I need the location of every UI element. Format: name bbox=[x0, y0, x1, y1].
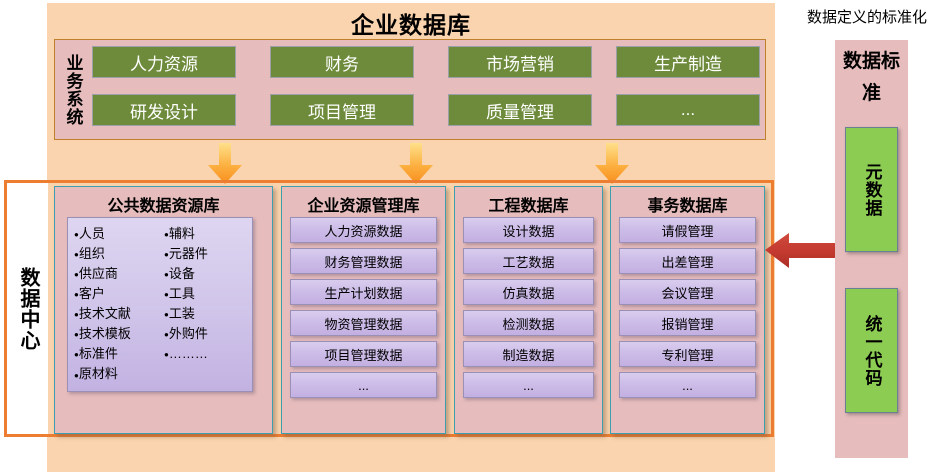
repo-enterprise-resource-mgmt[interactable]: 企业资源管理库 人力资源数据 财务管理数据 生产计划数据 物资管理数据 项目管理… bbox=[281, 186, 446, 434]
diagram-canvas: 企业数据库 业务系统 人力资源 财务 市场营销 生产制造 研发设计 项目管理 质… bbox=[0, 0, 952, 472]
public-data-bullet-panel: 人员 组织 供应商 客户 技术文献 技术模板 标准件 原材料 辅料 元器件 设备… bbox=[67, 217, 253, 392]
business-system-hr[interactable]: 人力资源 bbox=[92, 46, 236, 78]
list-item[interactable]: 人力资源数据 bbox=[290, 217, 437, 243]
business-systems-grid: 人力资源 财务 市场营销 生产制造 研发设计 项目管理 质量管理 ... bbox=[92, 44, 760, 136]
list-item[interactable]: 设计数据 bbox=[463, 217, 594, 243]
list-item[interactable]: 专利管理 bbox=[619, 341, 756, 367]
list-item[interactable]: 会议管理 bbox=[619, 279, 756, 305]
repo-transaction-data-items: 请假管理 出差管理 会议管理 报销管理 专利管理 ... bbox=[619, 217, 756, 425]
business-system-marketing[interactable]: 市场营销 bbox=[448, 46, 592, 78]
list-item[interactable]: 报销管理 bbox=[619, 310, 756, 336]
list-item[interactable]: 物资管理数据 bbox=[290, 310, 437, 336]
repo-public-data-resource[interactable]: 公共数据资源库 人员 组织 供应商 客户 技术文献 技术模板 标准件 原材料 辅… bbox=[54, 186, 273, 434]
list-item: 组织 bbox=[74, 244, 162, 264]
business-systems-label: 业务系统 bbox=[58, 41, 88, 138]
left-arrow-icon bbox=[763, 230, 839, 272]
list-item[interactable]: ... bbox=[463, 372, 594, 398]
list-item: 标准件 bbox=[74, 344, 162, 364]
business-system-quality-mgmt[interactable]: 质量管理 bbox=[448, 94, 592, 126]
list-item: 人员 bbox=[74, 224, 162, 244]
list-item: 设备 bbox=[164, 264, 252, 284]
down-arrow-icon-2 bbox=[398, 143, 434, 185]
list-item[interactable]: 工艺数据 bbox=[463, 248, 594, 274]
list-item: 技术文献 bbox=[74, 304, 162, 324]
business-system-rd-design[interactable]: 研发设计 bbox=[92, 94, 236, 126]
list-item[interactable]: 项目管理数据 bbox=[290, 341, 437, 367]
repo-transaction-data[interactable]: 事务数据库 请假管理 出差管理 会议管理 报销管理 专利管理 ... bbox=[610, 186, 765, 434]
public-data-bullets-right: 辅料 元器件 设备 工具 工装 外购件 ……… bbox=[162, 218, 252, 391]
list-item: 客户 bbox=[74, 284, 162, 304]
list-item[interactable]: ... bbox=[290, 372, 437, 398]
list-item[interactable]: ... bbox=[619, 372, 756, 398]
list-item: 工装 bbox=[164, 304, 252, 324]
list-item: 供应商 bbox=[74, 264, 162, 284]
repo-engineering-data-title: 工程数据库 bbox=[455, 192, 602, 216]
repo-public-data-resource-title: 公共数据资源库 bbox=[55, 192, 272, 216]
public-data-bullets-left: 人员 组织 供应商 客户 技术文献 技术模板 标准件 原材料 bbox=[68, 218, 162, 391]
business-system-project-mgmt[interactable]: 项目管理 bbox=[270, 94, 414, 126]
list-item[interactable]: 检测数据 bbox=[463, 310, 594, 336]
repo-enterprise-resource-mgmt-items: 人力资源数据 财务管理数据 生产计划数据 物资管理数据 项目管理数据 ... bbox=[290, 217, 437, 425]
standards-title: 数据标准 bbox=[835, 46, 908, 110]
standards-box-unified-code[interactable]: 统一代码 bbox=[845, 288, 898, 413]
list-item[interactable]: 请假管理 bbox=[619, 217, 756, 243]
repo-engineering-data-items: 设计数据 工艺数据 仿真数据 检测数据 制造数据 ... bbox=[463, 217, 594, 425]
list-item[interactable]: 仿真数据 bbox=[463, 279, 594, 305]
business-system-more[interactable]: ... bbox=[616, 94, 760, 126]
standards-box-metadata-text: 元数据 bbox=[862, 163, 882, 217]
list-item: 辅料 bbox=[164, 224, 252, 244]
list-item[interactable]: 财务管理数据 bbox=[290, 248, 437, 274]
list-item: 原材料 bbox=[74, 364, 162, 384]
down-arrow-icon-3 bbox=[594, 143, 630, 185]
list-item: 元器件 bbox=[164, 244, 252, 264]
enterprise-database-title: 企业数据库 bbox=[47, 6, 775, 40]
list-item: ……… bbox=[164, 344, 252, 364]
standards-box-unified-code-text: 统一代码 bbox=[862, 315, 882, 387]
list-item[interactable]: 出差管理 bbox=[619, 248, 756, 274]
business-system-finance[interactable]: 财务 bbox=[270, 46, 414, 78]
repo-transaction-data-title: 事务数据库 bbox=[611, 192, 764, 216]
list-item[interactable]: 生产计划数据 bbox=[290, 279, 437, 305]
list-item: 外购件 bbox=[164, 324, 252, 344]
list-item: 技术模板 bbox=[74, 324, 162, 344]
standards-heading: 数据定义的标准化 bbox=[782, 6, 952, 27]
list-item: 工具 bbox=[164, 284, 252, 304]
down-arrow-icon-1 bbox=[207, 143, 243, 185]
data-center-label-text: 数据中心 bbox=[16, 267, 39, 351]
standards-box-metadata[interactable]: 元数据 bbox=[845, 127, 898, 252]
data-center-label: 数据中心 bbox=[7, 183, 48, 434]
business-systems-label-text: 业务系统 bbox=[64, 54, 83, 126]
repo-engineering-data[interactable]: 工程数据库 设计数据 工艺数据 仿真数据 检测数据 制造数据 ... bbox=[454, 186, 603, 434]
business-system-manufacturing[interactable]: 生产制造 bbox=[616, 46, 760, 78]
list-item[interactable]: 制造数据 bbox=[463, 341, 594, 367]
repo-enterprise-resource-mgmt-title: 企业资源管理库 bbox=[282, 192, 445, 216]
